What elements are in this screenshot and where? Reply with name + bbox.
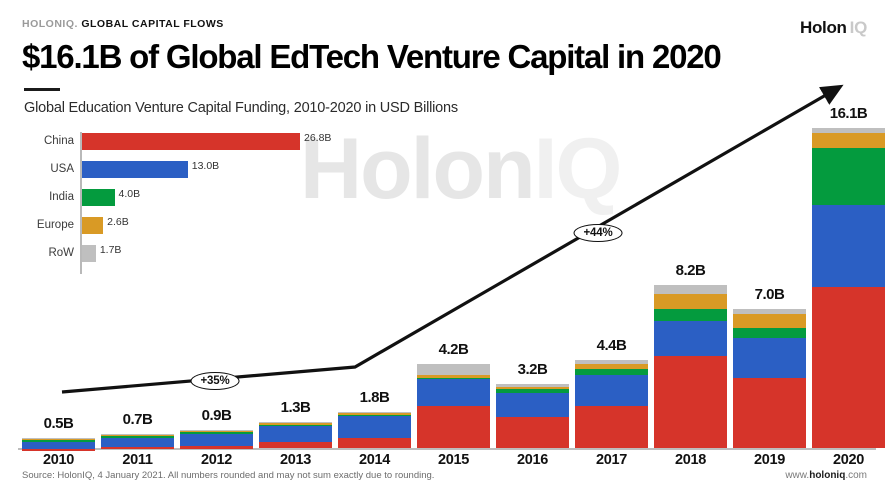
bar-column-2014[interactable]: 1.8B — [338, 412, 411, 448]
bar-segment-china — [733, 378, 806, 448]
bar-segment-china — [338, 438, 411, 448]
bar-segment-usa — [22, 442, 95, 449]
url-suffix: .com — [845, 470, 867, 481]
stacked-bar[interactable] — [338, 412, 411, 448]
bar-segment-usa — [101, 438, 174, 448]
bar-total-label: 4.4B — [597, 337, 627, 354]
x-axis-tick-2018: 2018 — [654, 452, 727, 468]
stacked-bar[interactable] — [575, 360, 648, 448]
x-axis-tick-2013: 2013 — [259, 452, 332, 468]
x-axis-tick-2015: 2015 — [417, 452, 490, 468]
bar-segment-usa — [417, 379, 490, 406]
x-axis-tick-2019: 2019 — [733, 452, 806, 468]
infographic-page: HOLONIQ. GLOBAL CAPITAL FLOWS HolonIQ $1… — [0, 0, 889, 500]
bar-total-label: 7.0B — [755, 286, 785, 303]
bar-segment-row — [654, 285, 727, 294]
bar-segment-china — [575, 406, 648, 448]
bar-segment-usa — [575, 375, 648, 406]
x-axis-tick-2012: 2012 — [180, 452, 253, 468]
bar-total-label: 16.1B — [830, 105, 868, 122]
source-note: Source: HolonIQ, 4 January 2021. All num… — [22, 470, 434, 481]
bar-total-label: 0.9B — [202, 407, 232, 424]
bar-segment-india — [733, 328, 806, 338]
bar-segment-usa — [338, 416, 411, 437]
bar-column-2012[interactable]: 0.9B — [180, 430, 253, 448]
bar-segment-usa — [654, 321, 727, 357]
stacked-bar[interactable] — [417, 364, 490, 448]
bar-column-2017[interactable]: 4.4B — [575, 360, 648, 448]
bar-segment-usa — [733, 338, 806, 379]
bar-total-label: 3.2B — [518, 361, 548, 378]
bar-column-2018[interactable]: 8.2B — [654, 285, 727, 448]
bar-segment-europe — [733, 314, 806, 328]
bar-segment-india — [654, 309, 727, 321]
bar-segment-china — [812, 287, 885, 448]
url-prefix: www. — [785, 470, 809, 481]
website-url: www.holoniq.com — [785, 470, 867, 481]
stacked-bar[interactable] — [496, 384, 569, 448]
stacked-bar[interactable] — [733, 309, 806, 448]
bar-total-label: 0.7B — [123, 411, 153, 428]
bar-total-label: 1.3B — [281, 399, 311, 416]
bar-column-2010[interactable]: 0.5B — [22, 438, 95, 448]
bar-segment-europe — [812, 133, 885, 148]
stacked-bar[interactable] — [22, 438, 95, 448]
url-brand: holoniq — [809, 470, 845, 481]
bar-segment-china — [180, 446, 253, 449]
bar-total-label: 1.8B — [360, 389, 390, 406]
bar-segment-china — [417, 406, 490, 448]
stacked-bar[interactable] — [101, 434, 174, 448]
bar-segment-china — [259, 442, 332, 448]
bar-segment-usa — [180, 434, 253, 446]
bar-segment-row — [417, 364, 490, 375]
bar-segment-europe — [654, 294, 727, 309]
bar-column-2016[interactable]: 3.2B — [496, 384, 569, 448]
bar-segment-china — [496, 417, 569, 448]
x-axis-tick-2011: 2011 — [101, 452, 174, 468]
x-axis-tick-2014: 2014 — [338, 452, 411, 468]
x-axis-tick-2017: 2017 — [575, 452, 648, 468]
bar-segment-usa — [259, 426, 332, 443]
bar-total-label: 4.2B — [439, 341, 469, 358]
x-axis-tick-2020: 2020 — [812, 452, 885, 468]
bar-total-label: 0.5B — [44, 415, 74, 432]
stacked-bar[interactable] — [259, 422, 332, 448]
stacked-bar-chart: 0.5B20100.7B20110.9B20121.3B20131.8B2014… — [0, 0, 889, 500]
bar-segment-china — [22, 449, 95, 451]
bar-segment-india — [812, 148, 885, 206]
bar-column-2019[interactable]: 7.0B — [733, 309, 806, 448]
stacked-bar[interactable] — [180, 430, 253, 448]
x-axis-tick-2016: 2016 — [496, 452, 569, 468]
bar-column-2013[interactable]: 1.3B — [259, 422, 332, 448]
bar-segment-usa — [496, 393, 569, 417]
bar-segment-china — [654, 356, 727, 448]
bar-total-label: 8.2B — [676, 262, 706, 279]
stacked-bar[interactable] — [812, 128, 885, 448]
stacked-bar[interactable] — [654, 285, 727, 448]
bar-segment-usa — [812, 205, 885, 287]
x-axis-tick-2010: 2010 — [22, 452, 95, 468]
bar-segment-china — [101, 447, 174, 449]
bar-column-2011[interactable]: 0.7B — [101, 434, 174, 448]
bar-column-2015[interactable]: 4.2B — [417, 364, 490, 448]
bar-column-2020[interactable]: 16.1B — [812, 128, 885, 448]
